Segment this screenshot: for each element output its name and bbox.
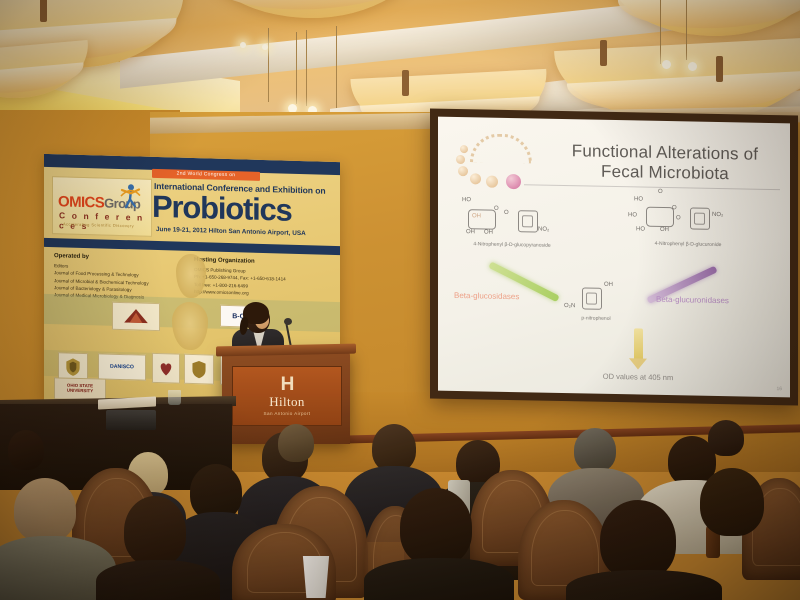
sponsor-label: OHIO STATE UNIVERSITY bbox=[56, 384, 104, 395]
pyranose-ring bbox=[468, 209, 496, 230]
omics-brand-text: OMICS bbox=[58, 193, 104, 211]
readout-down-arrow bbox=[634, 328, 643, 360]
pendant-lamp-clip bbox=[716, 56, 723, 82]
bubble-arc-icon bbox=[470, 133, 532, 163]
sponsor-logo bbox=[112, 302, 160, 331]
atom-label-ho: HO bbox=[634, 196, 643, 202]
presentation-slide: Functional Alterations of Fecal Microbio… bbox=[438, 117, 790, 398]
omics-logo: OMICSGroup C o n f e r e n c e s Acceler… bbox=[52, 176, 152, 237]
benzene-ring bbox=[518, 210, 538, 232]
atom-label-o-carboxyl: O bbox=[658, 189, 663, 195]
product-label: p-nitrophenol bbox=[556, 315, 636, 323]
audience-head bbox=[278, 424, 314, 462]
od-readout-label: OD values at 405 nm bbox=[548, 371, 728, 383]
audience-head-foreground bbox=[600, 500, 676, 580]
audience-head bbox=[708, 420, 744, 456]
hosting-phone: Ph: +1-650-268-9744, Fax: +1-650-618-141… bbox=[194, 274, 286, 282]
right-chemical-structure: HO O HO O O HO OH NO₂ 4-Nitrophenyl β-D-… bbox=[450, 125, 778, 131]
pendant-lamp-wire bbox=[686, 0, 687, 60]
product-structure: OH O₂N p-nitrophenol bbox=[450, 125, 778, 131]
pendant-lamp-clip bbox=[40, 0, 47, 22]
operated-by-subheading: Editors bbox=[54, 263, 68, 268]
light-bulb bbox=[262, 44, 268, 50]
pendant-lamp-wire bbox=[660, 0, 661, 64]
atom-label-no2: NO₂ bbox=[538, 227, 549, 233]
light-bulb bbox=[662, 60, 671, 69]
hilton-monogram: H bbox=[281, 376, 294, 393]
banner-hosting-block: Hosting Organization OMICS Publishing Gr… bbox=[194, 256, 330, 299]
hilton-plaque: H Hilton San Antonio Airport bbox=[232, 366, 342, 426]
atom-label-oh: OH bbox=[660, 227, 669, 233]
right-structure-caption: 4-Nitrophenyl β-D-glucuronide bbox=[624, 240, 752, 248]
atom-label-oh: OH bbox=[604, 282, 613, 288]
audience-shoulders-foreground bbox=[566, 570, 722, 600]
audience-shoulders-foreground bbox=[364, 558, 514, 600]
atom-label-o-glycosidic: O bbox=[504, 210, 509, 216]
bubble-dot bbox=[470, 173, 481, 184]
light-bulb bbox=[688, 62, 697, 71]
slide-number: 16 bbox=[776, 386, 782, 392]
pendant-lamp-wire bbox=[296, 32, 297, 104]
atom-label-ho: HO bbox=[636, 226, 645, 232]
benzene-ring bbox=[690, 207, 710, 229]
journal-item: Journal of Food Processing & Technology bbox=[54, 270, 139, 277]
water-glass bbox=[168, 390, 181, 405]
atom-label-oh: OH bbox=[484, 230, 493, 236]
bubble-dot bbox=[456, 155, 465, 164]
pendant-lamp-clip bbox=[600, 40, 607, 66]
sponsor-logo bbox=[152, 353, 180, 384]
sponsor-label: DANISCO bbox=[110, 364, 134, 371]
projector-device bbox=[106, 410, 156, 430]
pyranose-ring bbox=[646, 207, 674, 228]
atom-label-o: O bbox=[494, 206, 499, 212]
banner-conference-topic: Probiotics bbox=[152, 191, 292, 226]
journal-item: Journal of Bacteriology & Parasitology bbox=[54, 285, 132, 292]
right-enzyme-label: Beta-glucuronidases bbox=[656, 295, 729, 305]
bubble-dot bbox=[458, 166, 468, 176]
slide-title: Functional Alterations of Fecal Microbio… bbox=[534, 140, 790, 184]
sponsor-logo bbox=[184, 354, 214, 385]
audience-head-foreground bbox=[124, 496, 186, 566]
projection-screen-frame: Functional Alterations of Fecal Microbio… bbox=[430, 108, 798, 405]
left-enzyme-label: Beta-glucosidases bbox=[454, 291, 519, 301]
sponsor-logo: DANISCO bbox=[98, 353, 146, 380]
atom-label-o-ring: O bbox=[672, 205, 677, 211]
hilton-brand: Hilton bbox=[269, 394, 305, 410]
atom-label-ho: HO bbox=[628, 212, 637, 218]
microphone-head bbox=[284, 318, 292, 325]
audience-shoulders-foreground bbox=[96, 560, 220, 600]
benzene-ring bbox=[582, 287, 602, 309]
journal-item: Journal of Microbial & Biochemical Techn… bbox=[54, 278, 149, 286]
bubble-dot bbox=[460, 145, 468, 153]
sponsor-logo-ohio-state: OHIO STATE UNIVERSITY bbox=[54, 377, 106, 400]
conference-photo-scene: Functional Alterations of Fecal Microbio… bbox=[0, 0, 800, 600]
banner-seal-emblem bbox=[172, 301, 208, 350]
audience-head bbox=[700, 468, 764, 536]
left-structure-caption: 4-Nitrophenyl β-D-glucopyranoside bbox=[442, 241, 582, 250]
audience-head bbox=[574, 428, 616, 472]
slide-title-underline bbox=[524, 184, 780, 190]
atom-label-o-glycosidic: O bbox=[676, 215, 681, 221]
atom-label-oh: OH bbox=[466, 229, 475, 235]
hilton-location: San Antonio Airport bbox=[264, 411, 311, 416]
light-bulb bbox=[240, 42, 246, 48]
pendant-lamp-wire bbox=[306, 30, 307, 106]
sponsor-pyramid-icon bbox=[116, 306, 156, 327]
banner-date-venue: June 19-21, 2012 Hilton San Antonio Airp… bbox=[156, 226, 306, 237]
banner-ribbon-text: 2nd World Congress on bbox=[152, 169, 260, 181]
atom-label-no2: NO₂ bbox=[712, 212, 723, 218]
banner-ribbon: 2nd World Congress on bbox=[152, 169, 260, 181]
audience-head-foreground bbox=[14, 478, 76, 542]
podium-top bbox=[216, 344, 356, 357]
runner-figure-icon bbox=[119, 183, 141, 214]
sponsor-shield-icon bbox=[190, 359, 208, 380]
sponsor-heart-icon bbox=[158, 358, 174, 378]
atom-label-ho: HO bbox=[462, 197, 471, 203]
bubble-dot-highlight bbox=[506, 174, 521, 189]
sponsor-crest-icon bbox=[63, 356, 83, 377]
pendant-lamp bbox=[198, 0, 432, 24]
microbiota-bubbles-icon bbox=[452, 133, 538, 191]
audience-head bbox=[8, 430, 44, 470]
projection-screen: Functional Alterations of Fecal Microbio… bbox=[438, 117, 790, 398]
operated-by-heading: Operated by bbox=[54, 253, 89, 260]
atom-label-o2n: O₂N bbox=[564, 303, 575, 309]
audience-head bbox=[372, 424, 416, 472]
bubble-dot bbox=[486, 176, 498, 188]
pendant-lamp-wire bbox=[268, 28, 269, 102]
pendant-lamp-clip bbox=[402, 70, 409, 96]
atom-label-oh: OH bbox=[472, 213, 481, 219]
audience-head-foreground bbox=[400, 488, 472, 566]
pendant-lamp-wire bbox=[336, 26, 337, 108]
left-chemical-structure: HO OH O O OH OH NO₂ 4-Nitrophenyl β-D-gl… bbox=[450, 125, 778, 131]
